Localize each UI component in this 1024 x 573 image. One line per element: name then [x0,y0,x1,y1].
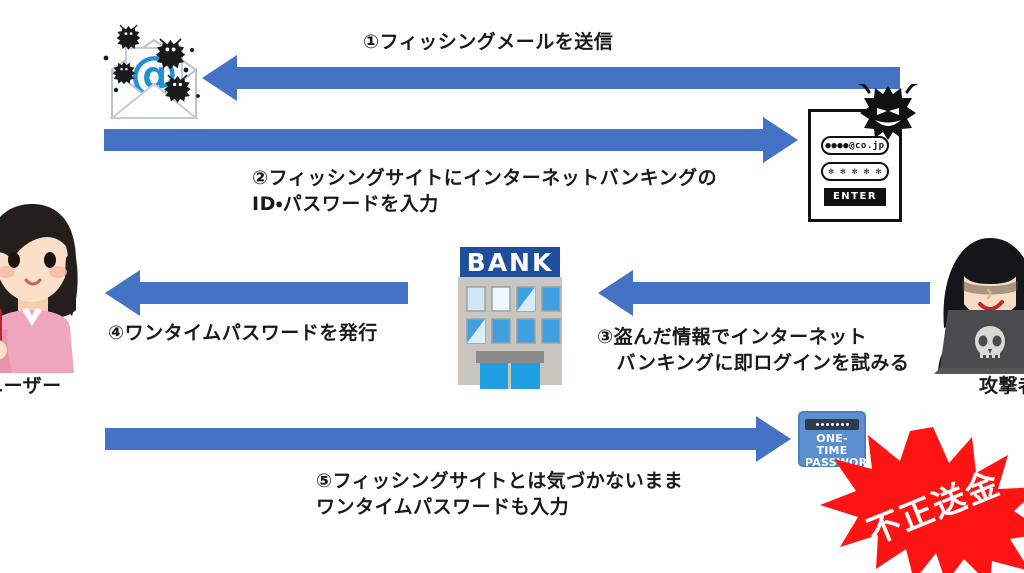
arrow-shaft [632,282,930,304]
arrow-step-1 [202,55,900,101]
arrow-step-4 [105,270,408,316]
phishing-enter-button[interactable]: ENTER [824,188,886,206]
bank-illustration: BANK [446,243,574,389]
starburst-shape [818,425,1024,573]
user-label: ユーザー [0,371,62,398]
user-illustration [0,198,88,373]
attacker-illustration [934,232,1024,374]
arrow-shaft [236,67,900,89]
arrowhead-left [598,270,633,316]
caption-step-3: ③盗んだ情報でインターネット バンキングに即ログインを試みる [597,324,909,376]
fraud-transfer-starburst: 不正送金 [818,425,1024,573]
arrow-step-3 [598,270,930,316]
malware-face-icon [855,84,921,140]
arrowhead-right [763,117,798,163]
caption-step-2: ②フィッシングサイトにインターネットバンキングの ID・パスワードを入力 [252,165,717,217]
caption-step-1: ①フィッシングメールを送信 [363,29,613,55]
diagram-canvas: ユーザー [0,0,1024,573]
phishing-email-icon: @ [98,18,210,130]
arrowhead-left [202,55,237,101]
caption-step-5: ⑤フィッシングサイトとは気づかないまま ワンタイムパスワードも入力 [316,468,683,520]
arrow-step-5 [105,416,791,462]
arrowhead-left [105,270,140,316]
arrowhead-right [756,416,791,462]
arrow-shaft [104,129,764,151]
arrow-shaft [139,282,408,304]
phishing-password-field[interactable]: ✻ ✻ ✻ ✻ ✻ [821,162,889,181]
caption-step-4: ④ワンタイムパスワードを発行 [108,320,378,346]
attacker-label: 攻撃者 [979,371,1024,398]
arrow-step-2 [104,117,798,163]
svg-text:BANK: BANK [467,248,554,277]
arrow-shaft [105,428,757,450]
